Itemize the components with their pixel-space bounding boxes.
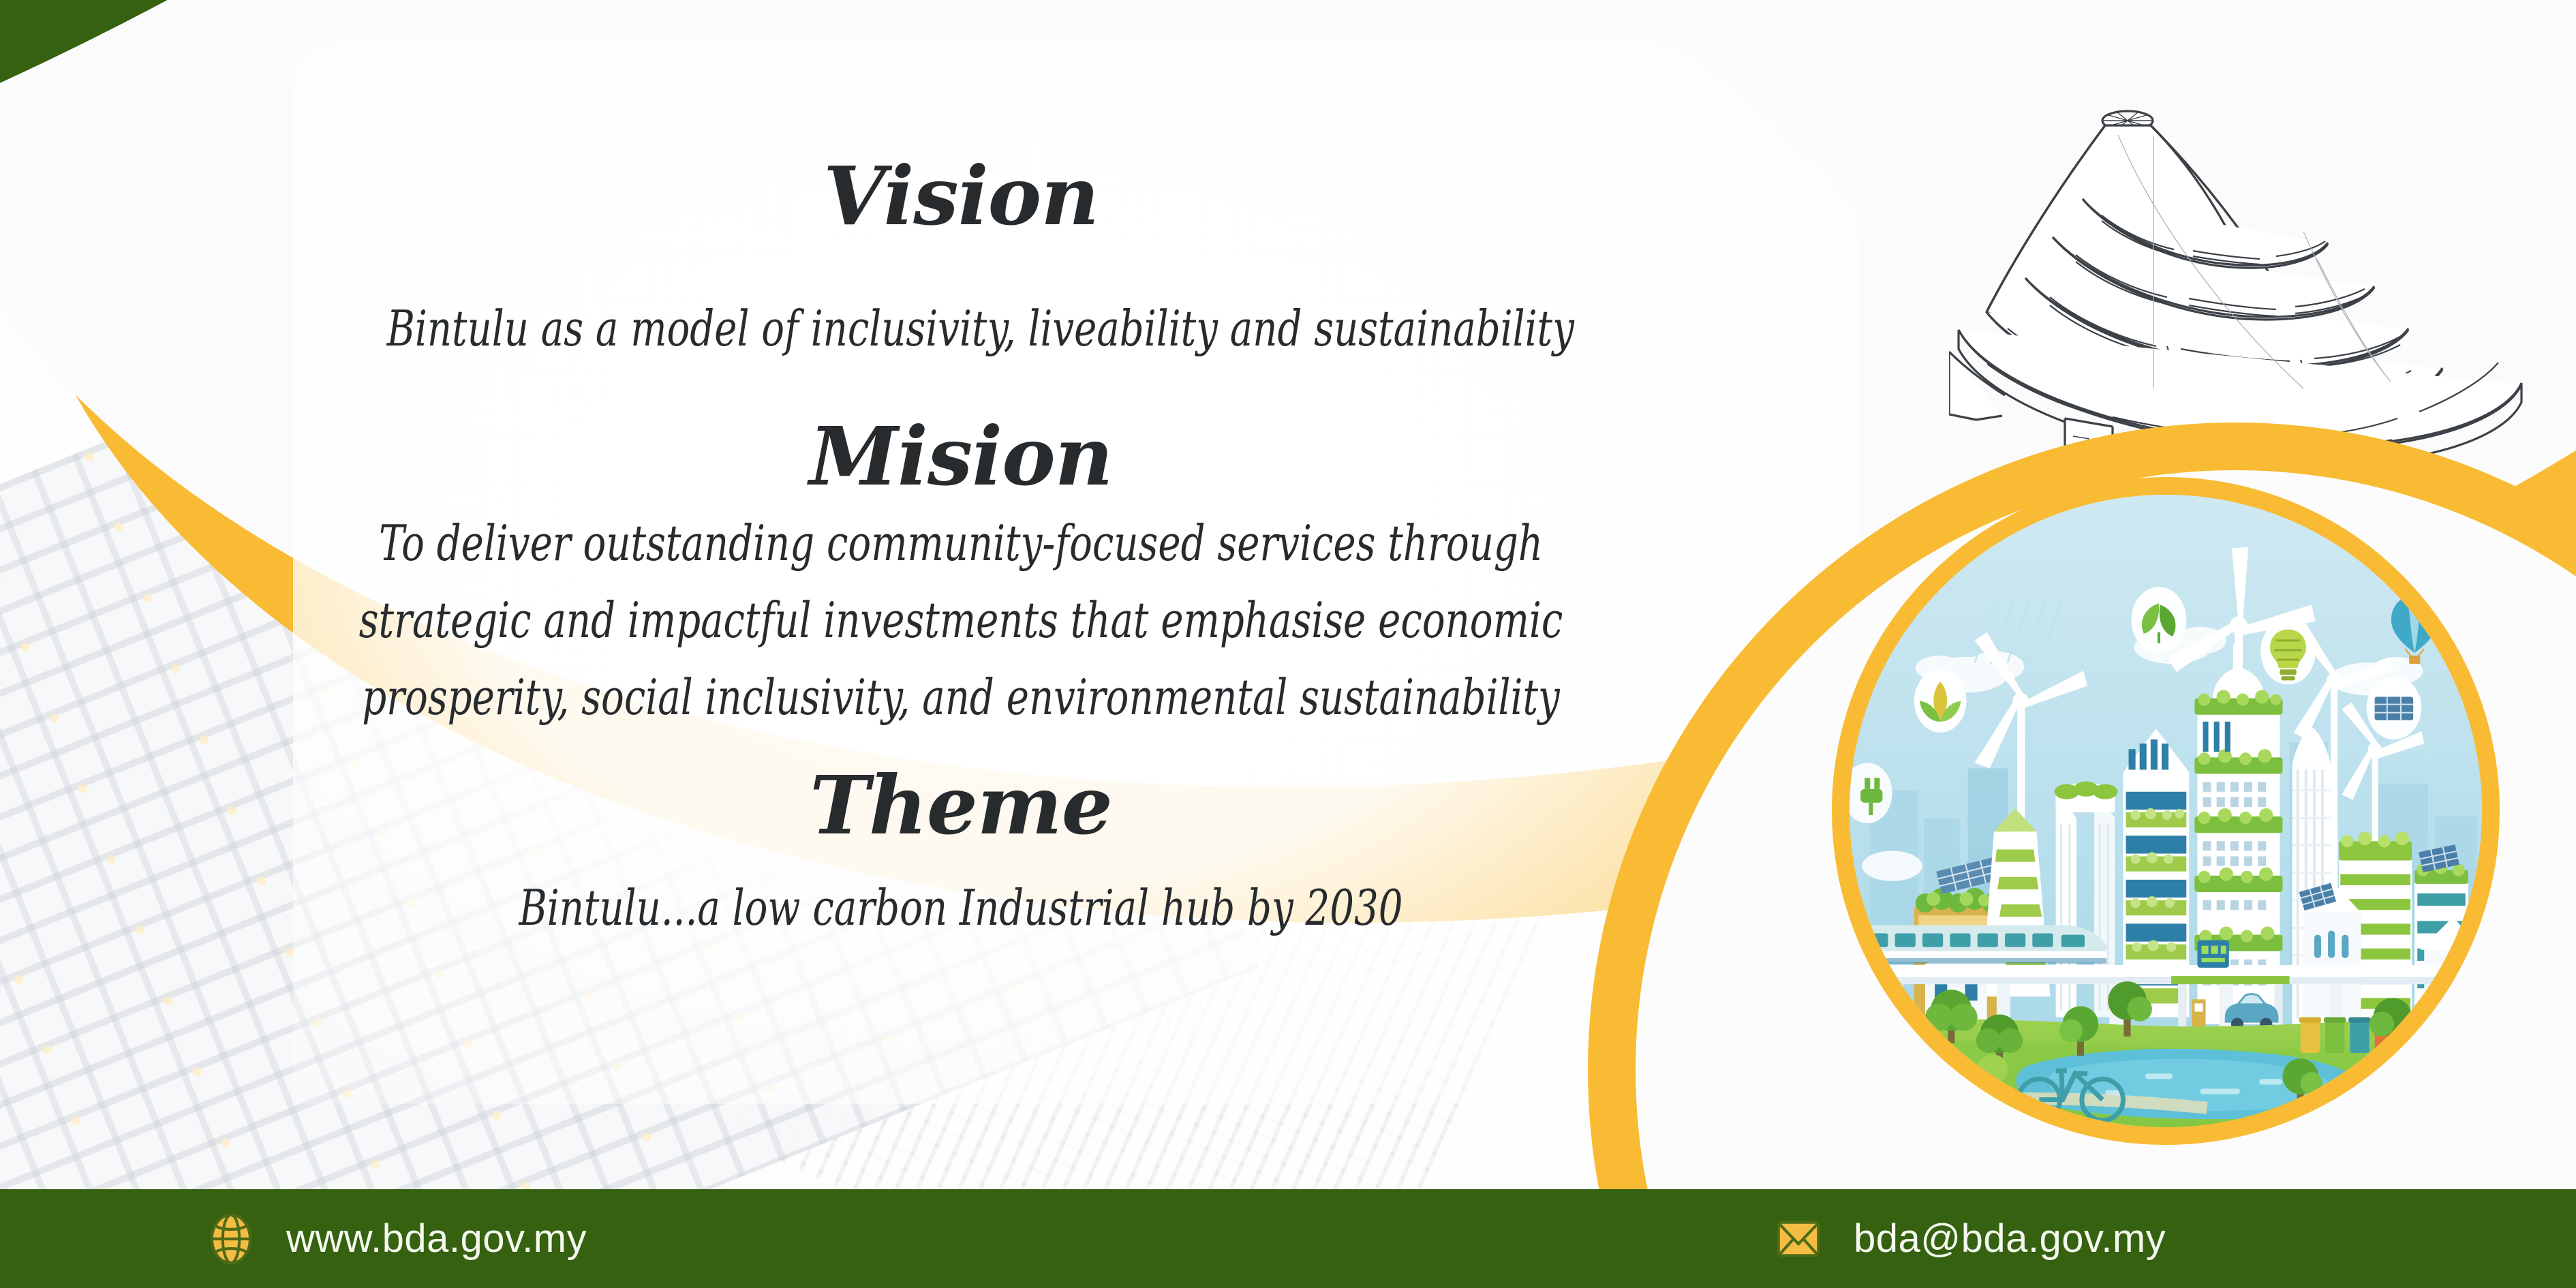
footer-bar: www.bda.gov.my bda@bda.gov.my — [0, 1189, 2576, 1288]
green-city-illustration — [1850, 495, 2482, 1127]
email-contact[interactable]: bda@bda.gov.my — [1772, 1212, 2166, 1266]
globe-icon — [204, 1212, 258, 1266]
vision-heading: Vision — [429, 149, 1492, 243]
green-city-circle — [1832, 477, 2500, 1145]
mision-statement-line-1: To deliver outstanding community-focused… — [350, 515, 1572, 572]
mision-heading: Mision — [429, 409, 1492, 504]
website-contact[interactable]: www.bda.gov.my — [204, 1212, 587, 1266]
text-content: Vision Bintulu as a model of inclusivity… — [0, 0, 1881, 1189]
email-label: bda@bda.gov.my — [1854, 1216, 2166, 1261]
vision-statement: Bintulu as a model of inclusivity, livea… — [387, 300, 1535, 357]
vision-mision-theme-banner: Vision Bintulu as a model of inclusivity… — [0, 0, 2576, 1288]
theme-heading: Theme — [429, 758, 1492, 853]
theme-statement: Bintulu...a low carbon Industrial hub by… — [467, 879, 1456, 936]
mision-statement-line-2: strategic and impactful investments that… — [350, 592, 1572, 649]
mision-statement-line-3: prosperity, social inclusivity, and envi… — [350, 669, 1572, 726]
envelope-icon — [1772, 1212, 1825, 1266]
website-label: www.bda.gov.my — [286, 1216, 587, 1261]
